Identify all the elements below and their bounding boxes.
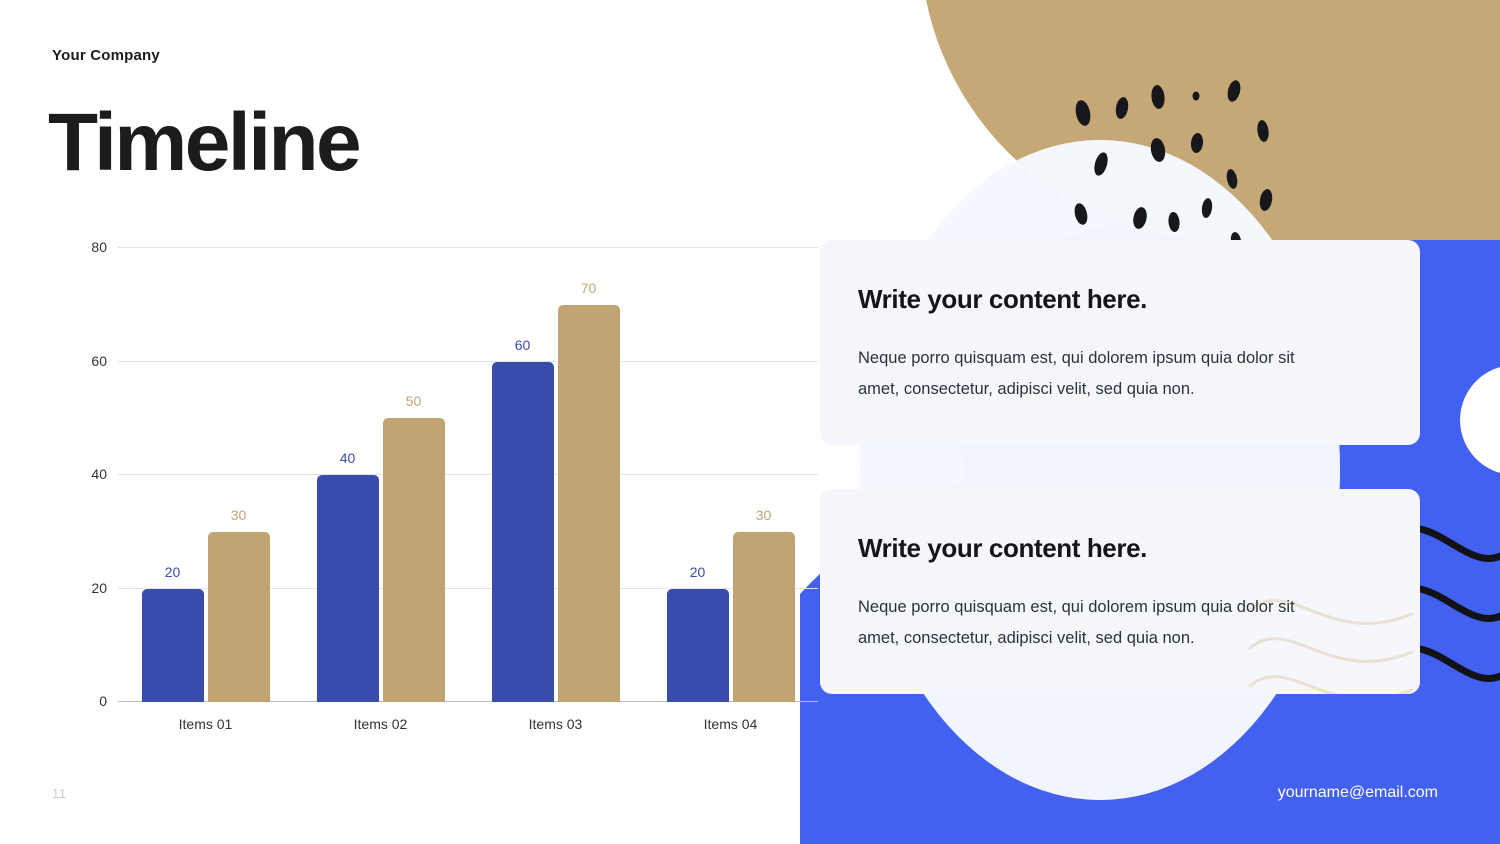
y-axis-tick-label: 20 [91, 580, 107, 596]
bar-value-label: 50 [406, 393, 422, 409]
bar[interactable]: 70 [558, 305, 620, 702]
card-body: Write your content here. Neque porro qui… [820, 489, 1420, 653]
pale-oval-tint [860, 140, 1340, 800]
x-axis-category-label: Items 04 [643, 716, 818, 732]
bar-value-label: 70 [581, 280, 597, 296]
bar[interactable]: 40 [317, 475, 379, 702]
bar-value-label: 30 [756, 507, 772, 523]
bar[interactable]: 60 [492, 362, 554, 703]
bar-value-label: 30 [231, 507, 247, 523]
bar-group: 6070Items 03 [468, 248, 643, 702]
card-body: Write your content here. Neque porro qui… [820, 240, 1420, 404]
bar[interactable]: 30 [733, 532, 795, 702]
chart-plot-area: 0204060802030Items 014050Items 026070Ite… [118, 248, 818, 702]
bar-value-label: 60 [515, 337, 531, 353]
company-name: Your Company [52, 47, 160, 64]
bar-group: 2030Items 01 [118, 248, 293, 702]
slide: Your Company Timeline 11 0204060802030It… [0, 0, 1500, 844]
x-axis-category-label: Items 03 [468, 716, 643, 732]
bar-group: 4050Items 02 [293, 248, 468, 702]
page-number: 11 [52, 786, 67, 801]
card-text: Neque porro quisquam est, qui dolorem ip… [858, 592, 1308, 653]
x-axis-category-label: Items 02 [293, 716, 468, 732]
bar-chart: 0204060802030Items 014050Items 026070Ite… [48, 248, 818, 740]
content-card-1[interactable]: Write your content here. Neque porro qui… [820, 240, 1420, 445]
bar-value-label: 20 [690, 564, 706, 580]
card-title: Write your content here. [858, 284, 1376, 315]
bar[interactable]: 20 [667, 589, 729, 703]
bar-groups: 2030Items 014050Items 026070Items 032030… [118, 248, 818, 702]
y-axis-tick-label: 40 [91, 466, 107, 482]
bar[interactable]: 50 [383, 418, 445, 702]
bar-value-label: 40 [340, 450, 356, 466]
content-card-2[interactable]: Write your content here. Neque porro qui… [820, 489, 1420, 694]
bar-value-label: 20 [165, 564, 181, 580]
page-title: Timeline [48, 100, 359, 186]
footer-email[interactable]: yourname@email.com [1278, 784, 1438, 802]
bar[interactable]: 30 [208, 532, 270, 702]
card-title: Write your content here. [858, 533, 1376, 564]
x-axis-category-label: Items 01 [118, 716, 293, 732]
y-axis-tick-label: 80 [91, 239, 107, 255]
y-axis-tick-label: 60 [91, 353, 107, 369]
card-text: Neque porro quisquam est, qui dolorem ip… [858, 343, 1308, 404]
bar-group: 2030Items 04 [643, 248, 818, 702]
bar[interactable]: 20 [142, 589, 204, 703]
y-axis-tick-label: 0 [99, 693, 107, 709]
